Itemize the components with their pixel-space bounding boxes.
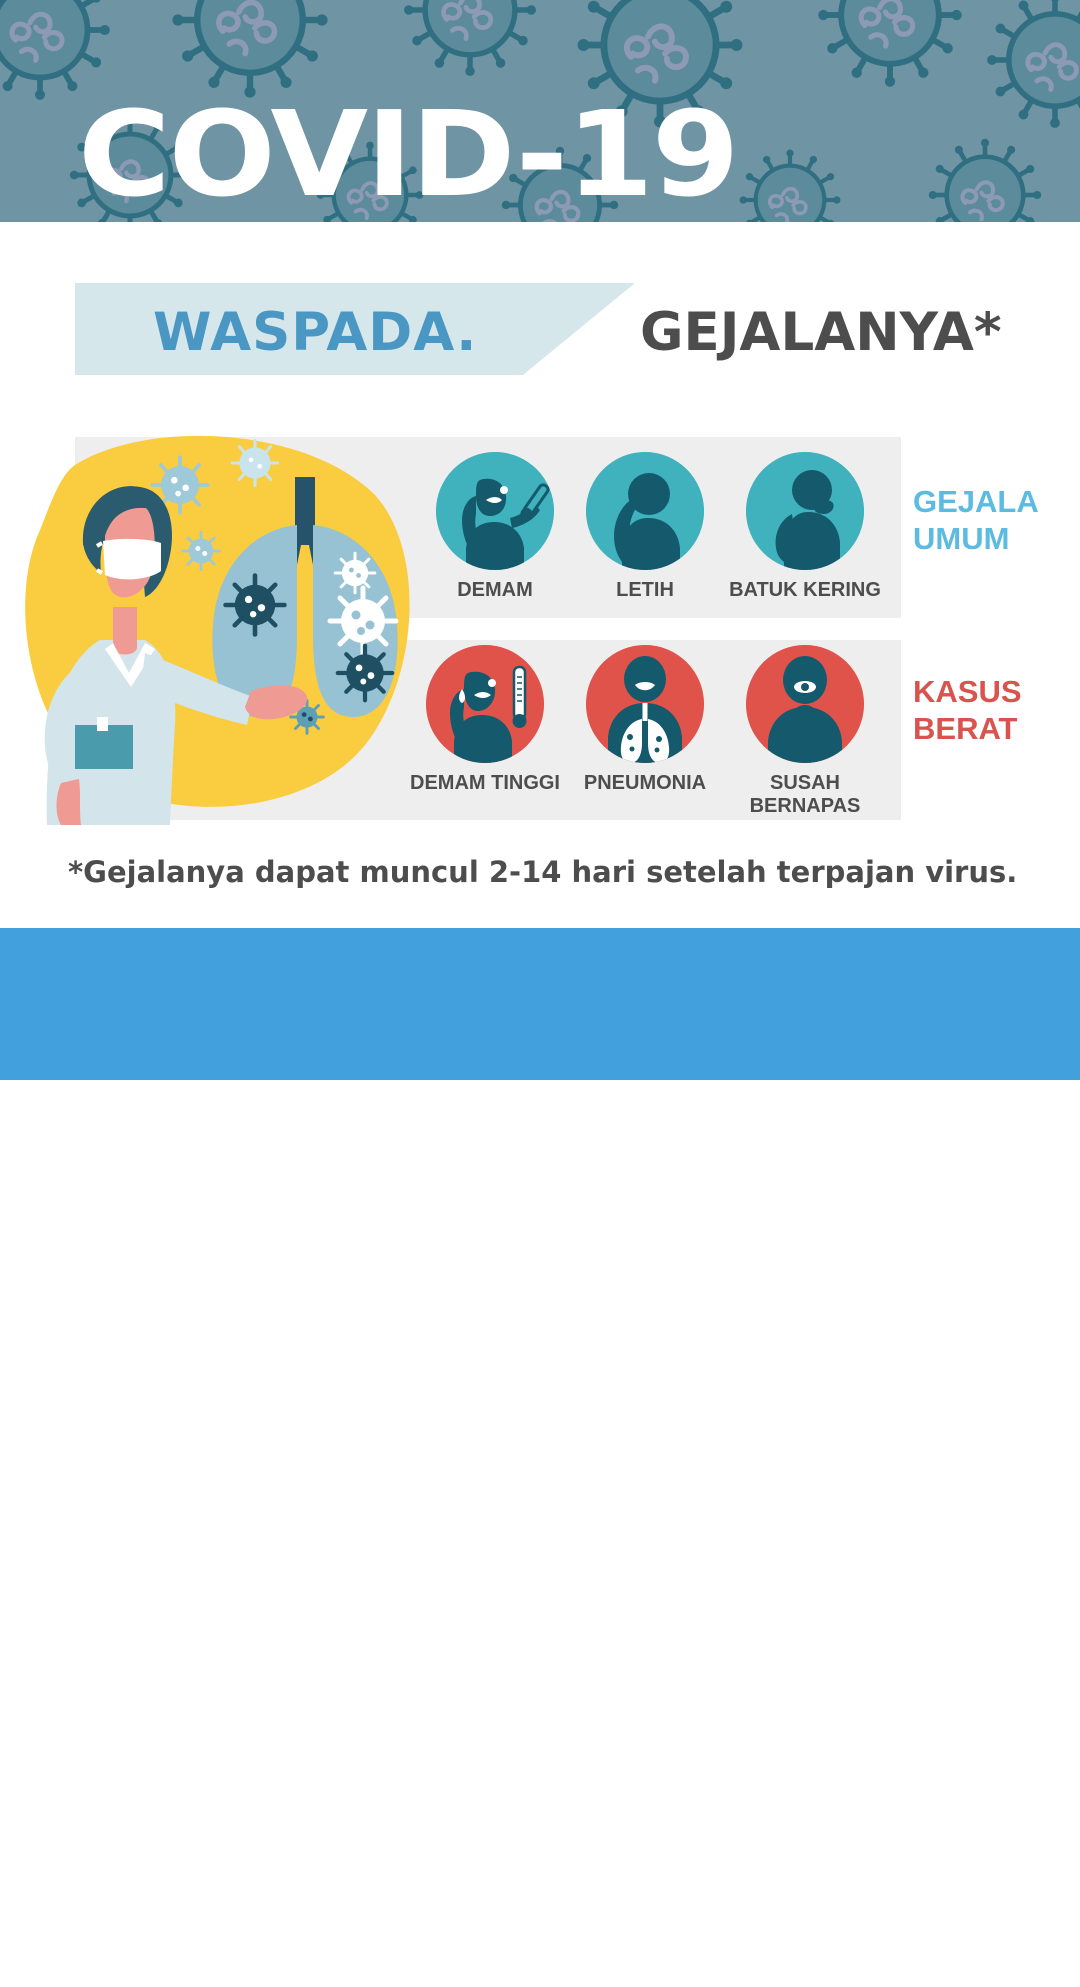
- dry-cough-person-icon: [746, 452, 864, 570]
- common-symptoms-row: DEMAM LETIH: [420, 452, 890, 602]
- section-title: GEJALANYA*: [640, 302, 1002, 363]
- fever-person-icon: [436, 452, 554, 570]
- waspada-banner: WASPADA.: [75, 283, 635, 375]
- symptom-label: SUSAH BERNAPAS: [750, 772, 861, 818]
- category-label-common: GEJALA UMUM: [913, 483, 1039, 557]
- footer-bar: World Health Organization Indonesia WASP…: [0, 928, 1080, 1080]
- pneumonia-lungs-icon: [586, 645, 704, 763]
- who-divider-rule: [398, 1956, 580, 1958]
- symptom-item-pneumonia: PNEUMONIA: [570, 645, 720, 818]
- who-country-label: Indonesia: [398, 1962, 580, 1987]
- symptom-label: LETIH: [616, 579, 674, 602]
- symptom-label: PNEUMONIA: [584, 772, 706, 795]
- symptom-item-demam-tinggi: DEMAM TINGGI: [400, 645, 570, 818]
- header-banner: COVID-19: [0, 0, 1080, 222]
- symptom-item-susah-bernapas: SUSAH BERNAPAS: [720, 645, 890, 818]
- symptom-label: DEMAM TINGGI: [410, 772, 560, 795]
- symptom-item-batuk-kering: BATUK KERING: [720, 452, 890, 602]
- symptom-label: DEMAM: [457, 579, 533, 602]
- symptom-item-demam: DEMAM: [420, 452, 570, 602]
- high-fever-thermometer-icon: [426, 645, 544, 763]
- fatigue-person-icon: [586, 452, 704, 570]
- footnote-text: *Gejalanya dapat muncul 2-14 hari setela…: [68, 855, 1017, 889]
- shortness-of-breath-icon: [746, 645, 864, 763]
- category-label-severe: KASUS BERAT: [913, 673, 1022, 747]
- covid19-symptoms-infographic: COVID-19 WASPADA. GEJALANYA*: [0, 0, 1080, 1080]
- symptom-label: BATUK KERING: [729, 579, 881, 602]
- severe-cases-row: DEMAM TINGGI: [400, 645, 890, 818]
- banner-highlight-text: WASPADA.: [153, 302, 477, 363]
- who-emblem: [300, 1888, 390, 1978]
- doctor-lungs-illustration: [5, 425, 425, 825]
- page-title: COVID-19: [78, 94, 763, 214]
- footer-url[interactable]: www.who.int/indonesia: [562, 1946, 815, 1975]
- symptom-item-letih: LETIH: [570, 452, 720, 602]
- footer-vertical-divider: [540, 1880, 543, 1984]
